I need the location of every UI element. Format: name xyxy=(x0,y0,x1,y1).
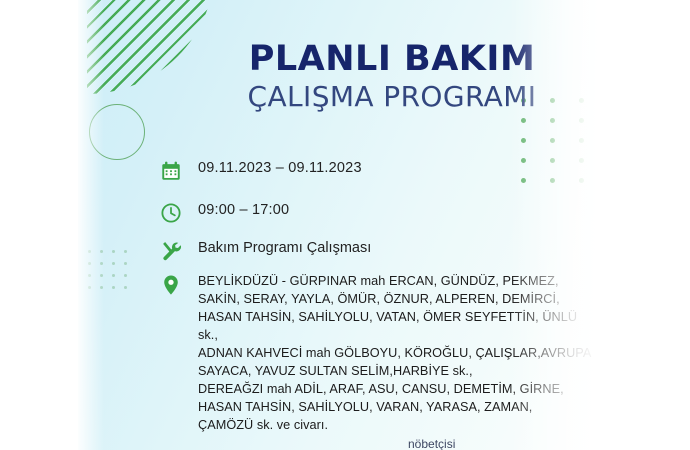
date-range-label: 09.11.2023 – 09.11.2023 xyxy=(198,158,362,179)
clock-icon xyxy=(158,200,184,226)
work-type-row: Bakım Programı Çalışması xyxy=(158,238,371,264)
time-row: 09:00 – 17:00 xyxy=(158,200,289,226)
date-row: 09.11.2023 – 09.11.2023 xyxy=(158,158,362,184)
calendar-icon xyxy=(158,158,184,184)
tools-icon xyxy=(158,238,184,264)
address-label: BEYLİKDÜZÜ - GÜRPINAR mah ERCAN, GÜNDÜZ,… xyxy=(198,272,600,434)
location-pin-icon xyxy=(158,272,184,298)
circle-outline-decoration xyxy=(89,104,145,160)
diagonal-stripes-decoration xyxy=(87,0,215,94)
page-title: PLANLI BAKIM xyxy=(202,42,582,77)
planned-maintenance-card: PLANLI BAKIM ÇALIŞMA PROGRAMI 09.11.2023… xyxy=(78,0,600,450)
work-type-label: Bakım Programı Çalışması xyxy=(198,238,371,259)
location-row: BEYLİKDÜZÜ - GÜRPINAR mah ERCAN, GÜNDÜZ,… xyxy=(158,272,600,434)
page-subtitle: ÇALIŞMA PROGRAMI xyxy=(202,82,582,111)
time-range-label: 09:00 – 17:00 xyxy=(198,200,289,221)
bottom-caption: nöbetçisi xyxy=(408,437,455,450)
dot-grid-left-decoration xyxy=(88,250,136,298)
dot-grid-right-decoration xyxy=(521,98,600,198)
